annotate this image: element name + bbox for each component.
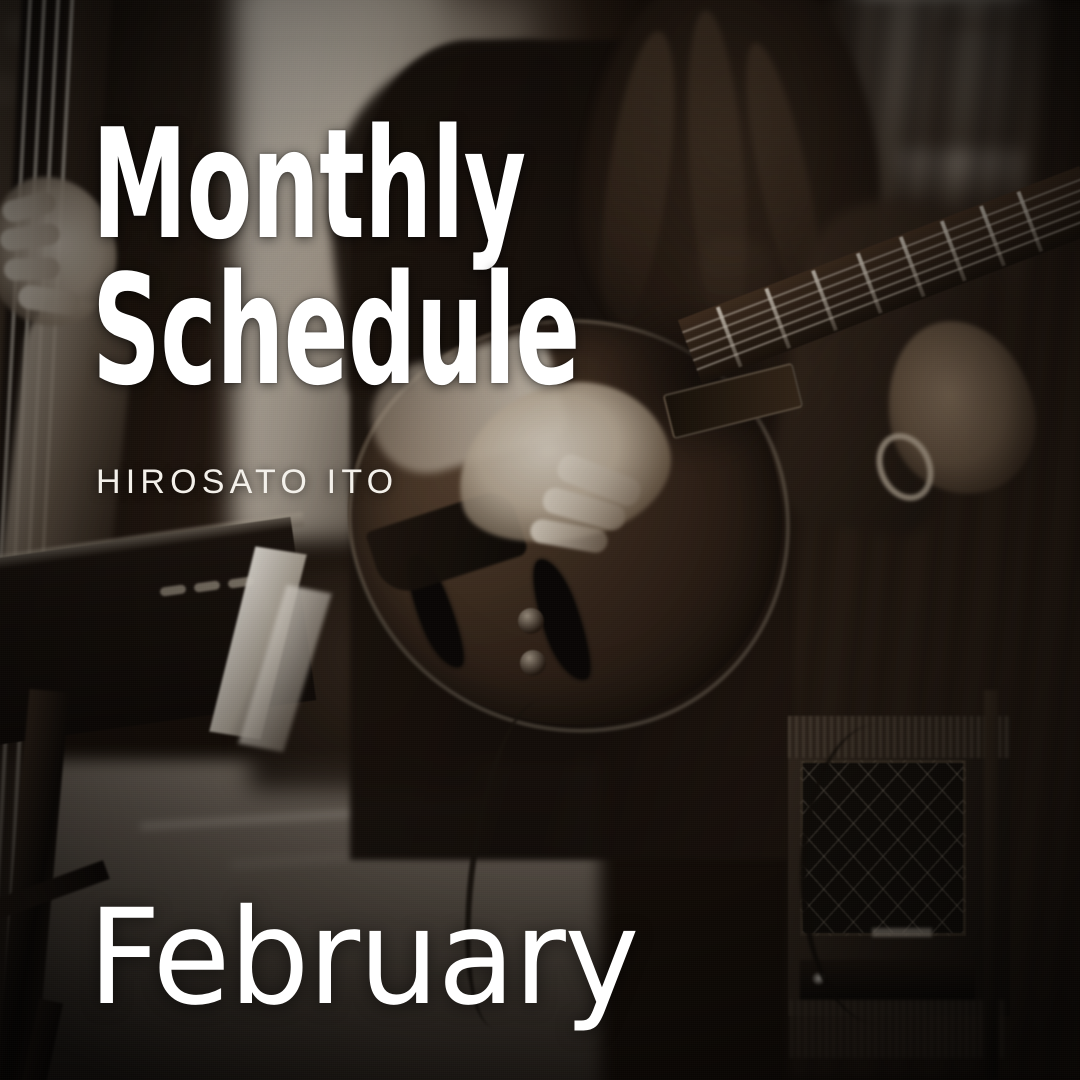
title-line-schedule: Schedule [92, 258, 580, 404]
month-label: February [88, 892, 638, 1024]
title-line-monthly: Monthly [92, 112, 580, 258]
monthly-schedule-poster: Monthly Schedule HIROSATO ITO February [0, 0, 1080, 1080]
text-overlay: Monthly Schedule HIROSATO ITO February [0, 0, 1080, 1080]
artist-name: HIROSATO ITO [96, 463, 398, 502]
page-title: Monthly Schedule [92, 112, 789, 404]
